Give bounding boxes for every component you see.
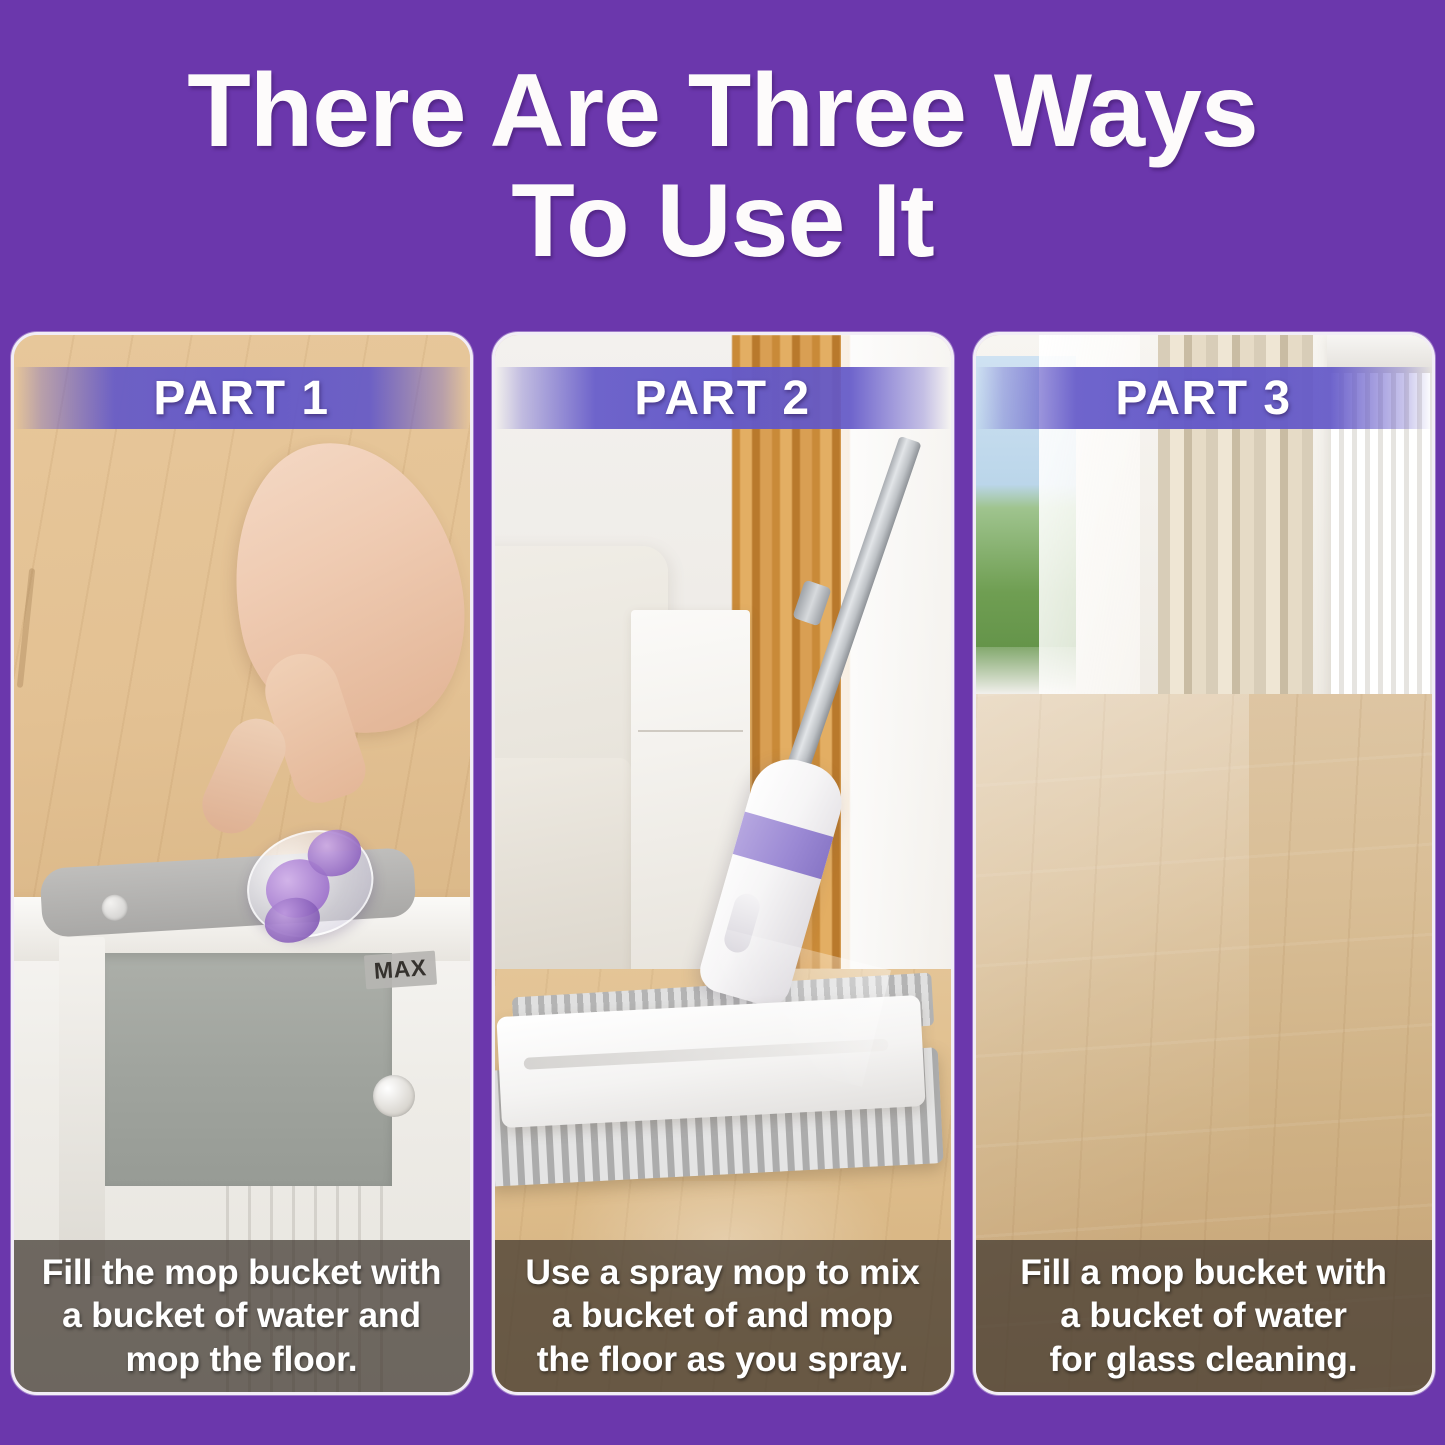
caption-bar-3: Fill a mop bucket with a bucket of water… (976, 1240, 1432, 1392)
part-badge-3: PART 3 (976, 367, 1432, 429)
panel-part-2[interactable]: PART 2 Use a spray mop to mix a bucket o… (492, 332, 954, 1395)
caption-bar-2: Use a spray mop to mix a bucket of and m… (495, 1240, 951, 1392)
scene-clean-floor (976, 335, 1432, 1392)
panel-row: MAX PART 1 Fill the mop bucket with a bu… (0, 332, 1445, 1395)
panel-part-3[interactable]: PART 3 Fill a mop bucket with a bucket o… (973, 332, 1435, 1395)
caption-text-2: Use a spray mop to mix a bucket of and m… (517, 1251, 927, 1381)
part-badge-label-2: PART 2 (634, 371, 810, 426)
sheer-curtain (841, 335, 950, 990)
header: There Are Three Ways To Use It (0, 0, 1445, 320)
max-level-label: MAX (364, 951, 437, 990)
caption-text-3: Fill a mop bucket with a bucket of water… (1012, 1251, 1394, 1381)
mop-water-tank (733, 811, 834, 879)
bucket-knob-icon (373, 1075, 415, 1117)
caption-bar-1: Fill the mop bucket with a bucket of wat… (14, 1240, 470, 1392)
part-badge-label-3: PART 3 (1115, 371, 1291, 426)
scene-spray-mop (495, 335, 951, 1392)
part-badge-label-1: PART 1 (153, 371, 329, 426)
mop-head-plate (496, 995, 925, 1128)
part-badge-2: PART 2 (495, 367, 951, 429)
bucket-divider-wall (59, 937, 105, 1275)
page-title-line-2: To Use It (511, 168, 933, 274)
page-title-line-1: There Are Three Ways (187, 58, 1257, 164)
scene-bucket-pod: MAX (14, 335, 470, 1392)
bucket-water (100, 953, 392, 1186)
panel-part-1[interactable]: MAX PART 1 Fill the mop bucket with a bu… (11, 332, 473, 1395)
part-badge-1: PART 1 (14, 367, 470, 429)
spray-trigger (721, 891, 763, 956)
caption-text-1: Fill the mop bucket with a bucket of wat… (34, 1251, 450, 1381)
max-level-text: MAX (373, 955, 427, 985)
